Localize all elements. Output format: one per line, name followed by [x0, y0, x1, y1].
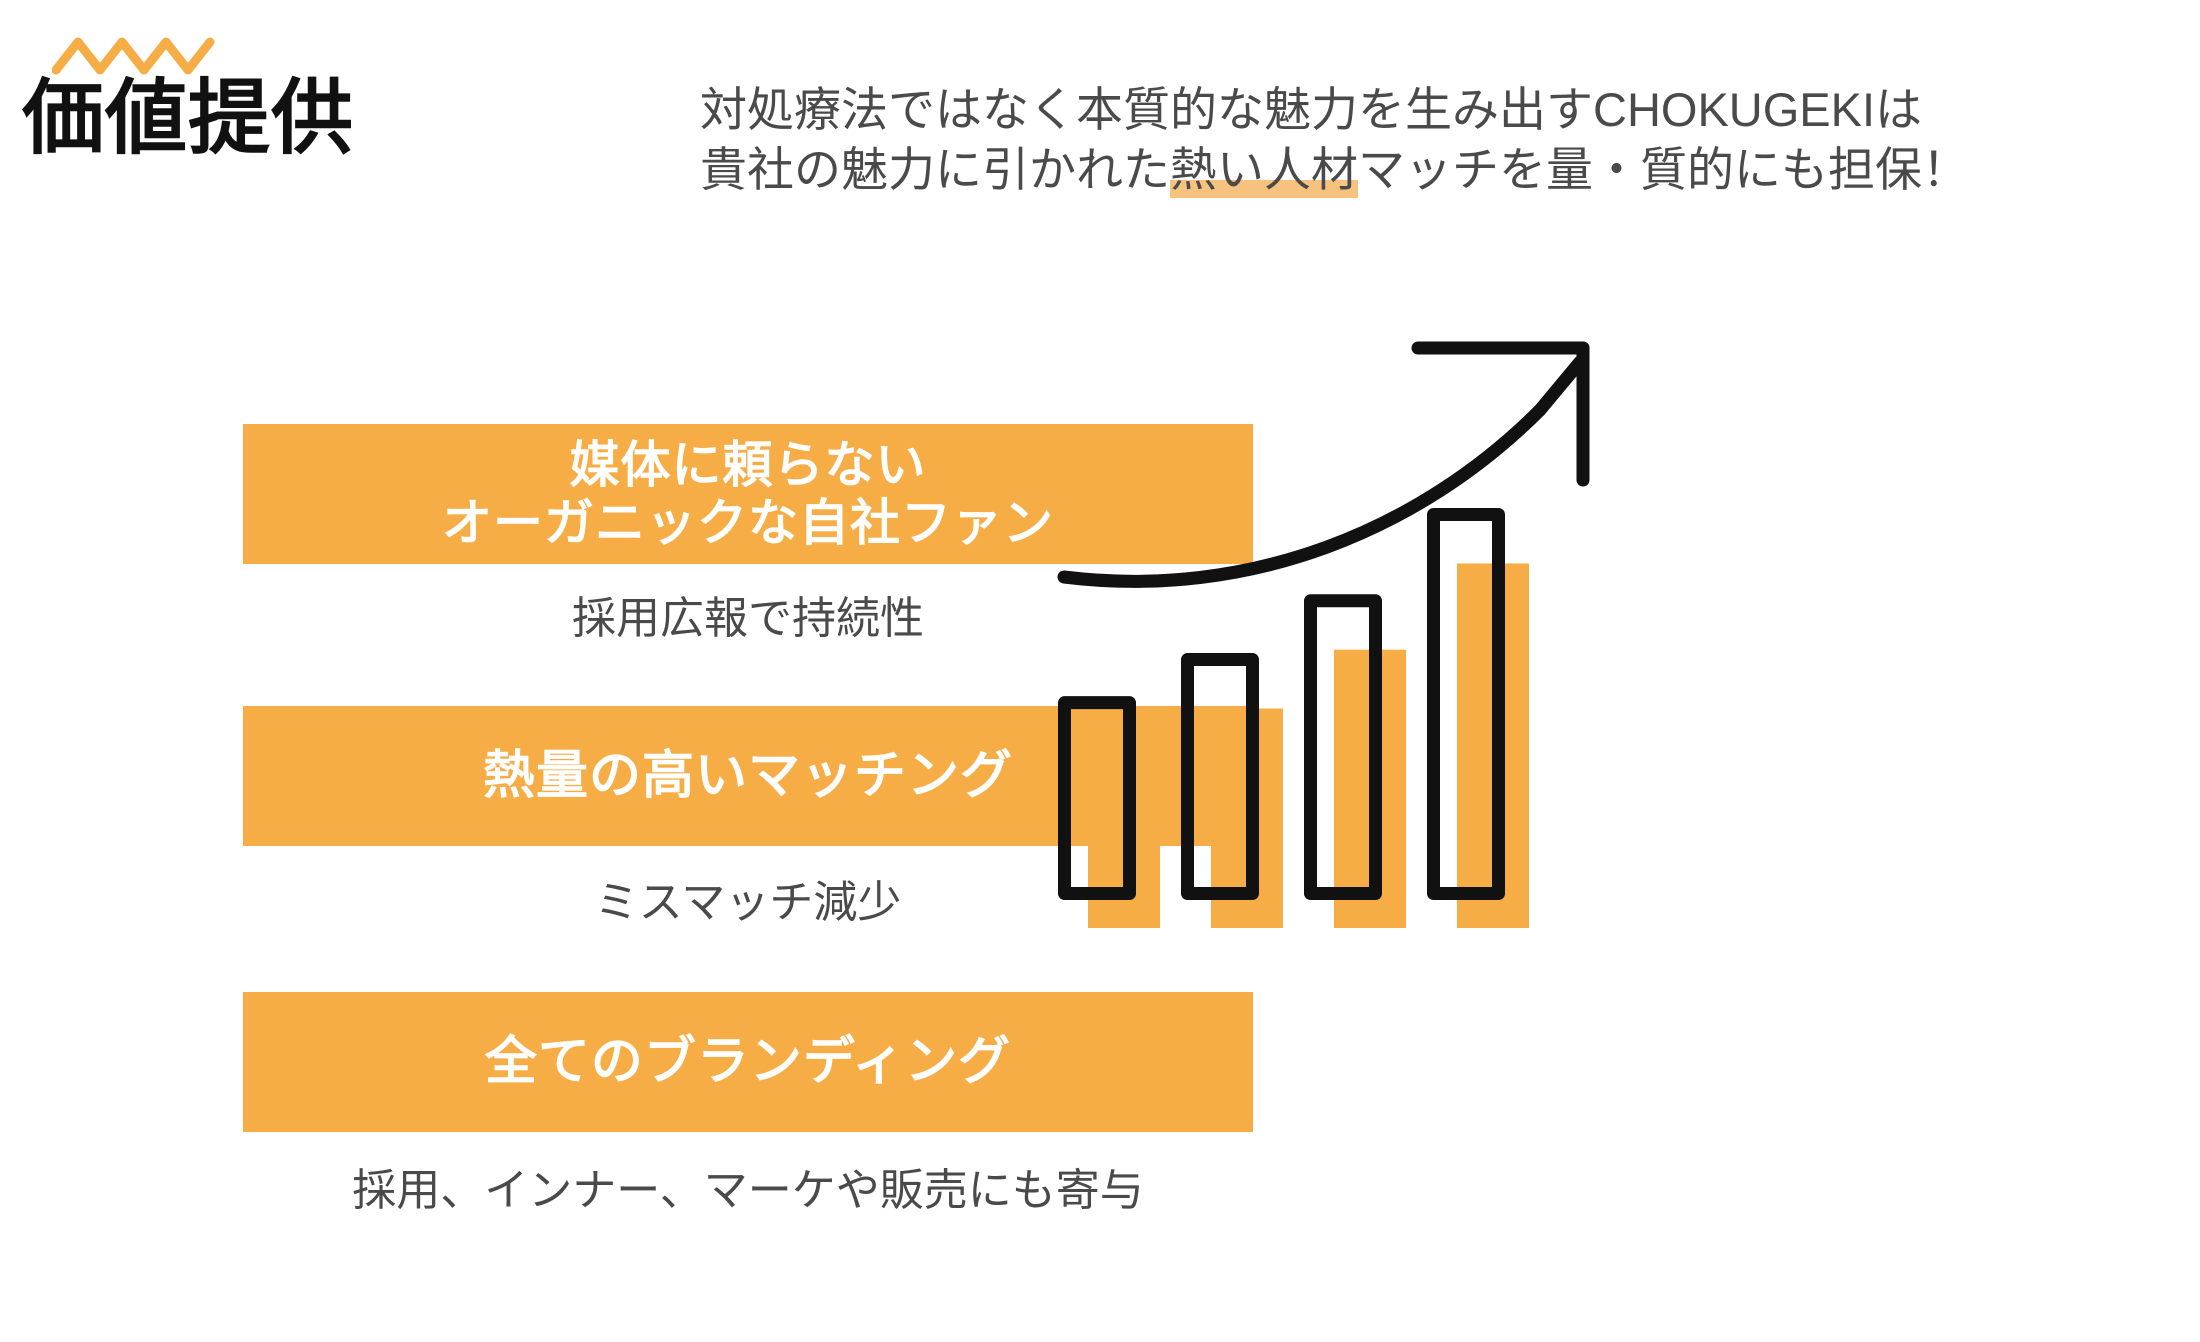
lead-line-2: 貴社の魅力に引かれた熱い人材マッチを量・質的にも担保！: [700, 140, 2180, 200]
page-title: 価値提供: [22, 78, 354, 160]
lead-line-2-after: マッチを量・質的にも担保！: [1358, 143, 1969, 196]
value-card-title-line-1: 全てのブランディング: [485, 1032, 1011, 1092]
value-card-title-line-2: オーガニックな自社ファン: [442, 494, 1054, 552]
value-card-title-line-1: 熱量の高いマッチング: [483, 746, 1013, 806]
slide-canvas: 価値提供 対処療法ではなく本質的な魅力を生み出すCHOKUGEKIは 貴社の魅力…: [0, 0, 2200, 1342]
growth-arrow-icon: [1064, 348, 1583, 581]
zigzag-logo-icon: [52, 30, 242, 76]
lead-line-2-before: 貴社の魅力に引かれた: [700, 143, 1170, 196]
lead-paragraph: 対処療法ではなく本質的な魅力を生み出すCHOKUGEKIは 貴社の魅力に引かれた…: [700, 80, 2180, 200]
lead-line-2-highlight: 熱い人材: [1170, 140, 1358, 200]
growth-bar-chart: [1020, 300, 2180, 1260]
value-card-title-line-1: 媒体に頼らない: [570, 436, 927, 494]
lead-line-1: 対処療法ではなく本質的な魅力を生み出すCHOKUGEKIは: [700, 80, 2180, 140]
